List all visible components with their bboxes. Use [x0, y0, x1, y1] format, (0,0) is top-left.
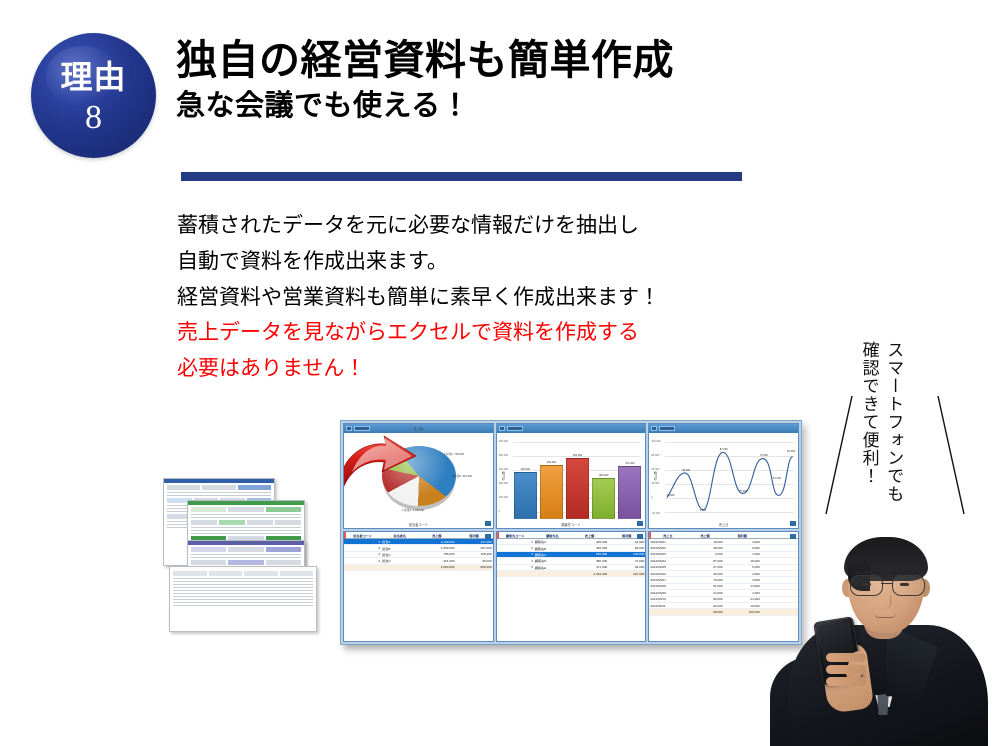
table-options-icon[interactable]	[637, 534, 643, 539]
bar-value-label: 425,000	[515, 468, 536, 471]
bar-ytick-6: 600,000	[499, 440, 508, 443]
bar-ytick-3: 300,000	[499, 482, 508, 485]
table-accent-bar	[649, 532, 651, 539]
line-point-label-5: 27,000	[739, 489, 747, 492]
slide-root: 理由 8 独自の経営資料も簡単作成 急な会議でも使える！ 蓄積されたデータを元に…	[0, 0, 998, 746]
bar-3: 530,000	[566, 458, 589, 519]
cell-total-sales: 58,000	[687, 609, 724, 615]
cell-total-sales: 4,560,000	[418, 564, 455, 570]
pie-label-1: 3 担当C, 756,000	[444, 452, 464, 456]
lens-right	[892, 575, 925, 596]
cell-total-code	[497, 570, 534, 576]
pie-label-2: 4 担当D, 461,000	[452, 474, 472, 478]
line-point-label-2: 48,000	[682, 469, 690, 472]
salesperson-table[interactable]: 担当者コード 担当者名 売上額 粗利額 1 担当A 2,199,000 427,…	[344, 532, 493, 571]
bar-ytick-2: 200,000	[499, 496, 508, 499]
headline-block: 独自の経営資料も簡単作成 急な会議でも使える！	[176, 38, 796, 124]
line-point-label-6: 76,000	[760, 454, 768, 457]
line-point-label-4: 87,000	[720, 448, 728, 451]
eyebrow-left	[854, 571, 880, 574]
body-copy: 蓄積されたデータを元に必要な情報だけを抽出し 自動で資料を作成出来ます。 経営資…	[177, 211, 777, 390]
panel-menu-icon[interactable]	[499, 426, 505, 431]
panel-menu-icon[interactable]	[651, 426, 657, 431]
vertical-caption: スマートフォンでも 確認できて便利！	[856, 341, 905, 516]
pie-chart-xlabel: 担当者コード	[344, 522, 493, 527]
red-arrow-icon	[343, 434, 422, 494]
line-ytick-0: -20,000	[651, 512, 660, 515]
cell-total-date	[649, 609, 686, 615]
bar-value-label: 471,000	[619, 462, 640, 465]
nose	[880, 595, 891, 609]
cell-total-name	[381, 564, 418, 570]
body-line-2: 自動で資料を作成出来ます。	[177, 247, 777, 277]
lens-left	[850, 575, 883, 596]
headline-main: 独自の経営資料も簡単作成	[176, 38, 796, 84]
document-page-form	[169, 566, 317, 632]
pie-table-panel: 担当者コード 担当者名 売上額 粗利額 1 担当A 2,199,000 427,…	[343, 531, 494, 642]
table-total-row: 4,560,000 890,000	[344, 564, 493, 570]
pie-chart-title: 売上額	[344, 426, 493, 431]
glasses-bridge	[881, 583, 892, 584]
caption-bracket-left-icon	[824, 396, 854, 516]
bar-value-label: 380,000	[593, 474, 614, 477]
bar-ytick-5: 500,000	[499, 454, 508, 457]
body-line-1: 蓄積されたデータを元に必要な情報だけを抽出し	[177, 211, 777, 241]
caption-bracket-right-icon	[936, 396, 966, 516]
eyebrow-right	[892, 571, 918, 574]
cell-total-code	[344, 564, 381, 570]
dashboard-panel-pie: 売上額 3 担当C, 756,000 4 担当D, 461,000 1 担当A,…	[343, 423, 494, 642]
panel-resize-handle[interactable]	[790, 521, 796, 526]
line-point-label-1: 18,000	[667, 494, 675, 497]
cell-total-sales: 2,294,000	[571, 570, 608, 576]
line-ytick-1: 0	[651, 496, 652, 499]
bar-value-label: 530,000	[567, 454, 588, 457]
line-point-label-8: 82,000	[787, 449, 795, 452]
pie-chart-panel: 売上額 3 担当C, 756,000 4 担当D, 461,000 1 担当A,…	[343, 423, 494, 529]
bar-chart-xlabel: 顧客先コード	[497, 522, 646, 527]
panel-titlebar[interactable]	[649, 424, 798, 433]
table-options-icon[interactable]	[485, 534, 491, 539]
body-line-5: 必要はありません！	[177, 354, 777, 384]
dashboard-panel-bar: 600,000 500,000 400,000 300,000 200,000 …	[496, 423, 647, 642]
customer-table-panel: 顧客先コード 顧客先名 売上額 粗利額 1 顧客先A 425,000 91,00…	[496, 531, 647, 642]
line-ytick-3: 40,000	[651, 482, 659, 485]
line-point-label-3: 2,000	[700, 509, 707, 512]
document-stack	[163, 478, 323, 633]
bar-1: 425,000	[514, 472, 537, 519]
body-line-3: 経営資料や営業資料も簡単に素早く作成出来ます！	[177, 283, 777, 313]
line-point-label-7: 51,000	[773, 477, 781, 480]
headline-sub: 急な会議でも使える！	[176, 89, 796, 124]
bar-ytick-0: 0	[499, 510, 500, 513]
cell-total-profit: 407,000	[608, 570, 645, 576]
eyeglasses	[848, 575, 926, 595]
badge-label: 理由	[60, 61, 126, 93]
dashboard-window: 売上額 3 担当C, 756,000 4 担当D, 461,000 1 担当A,…	[340, 420, 802, 645]
line-chart-panel: 100,000 80,000 60,000 40,000 0 -20,000 売…	[648, 423, 799, 529]
finger-1	[826, 653, 866, 662]
table-total-row: 2,294,000 407,000	[497, 570, 646, 576]
line-ytick-6: 100,000	[651, 440, 660, 443]
finger-2	[826, 665, 866, 674]
finger-3	[826, 677, 866, 686]
bar-value-label: 482,000	[541, 461, 562, 464]
vertical-caption-line-1: スマートフォンでも	[881, 341, 906, 516]
cell-total-name	[534, 570, 571, 576]
bar-chart-panel: 600,000 500,000 400,000 300,000 200,000 …	[496, 423, 647, 529]
bar-2: 482,000	[540, 465, 563, 520]
panel-titlebar[interactable]	[497, 424, 646, 433]
body-line-4: 売上データを見ながらエクセルで資料を作成する	[177, 318, 777, 348]
pie-label-3: 1 担当A, 2,199,000	[402, 508, 424, 512]
panel-resize-handle[interactable]	[485, 521, 491, 526]
table-accent-bar	[497, 532, 499, 539]
mouth	[874, 613, 896, 618]
line-ytick-5: 80,000	[651, 454, 659, 457]
bar-chart-ylabel: 売上額	[501, 471, 505, 480]
headline-rule	[181, 172, 742, 181]
cell-total-profit: 890,000	[455, 564, 492, 570]
reason-badge: 理由 8	[31, 33, 156, 158]
panel-tab-icon[interactable]	[507, 426, 523, 431]
customer-table[interactable]: 顧客先コード 顧客先名 売上額 粗利額 1 顧客先A 425,000 91,00…	[497, 532, 646, 577]
bar-5: 471,000	[618, 466, 641, 519]
panel-tab-icon[interactable]	[659, 426, 675, 431]
line-chart-xlabel: 売上日	[649, 522, 798, 527]
businessman-photo	[752, 533, 998, 746]
badge-number: 8	[85, 101, 102, 135]
panel-resize-handle[interactable]	[637, 521, 643, 526]
bar-4: 380,000	[592, 478, 615, 519]
table-accent-bar	[344, 532, 346, 539]
bar-series: 425,000 482,000 530,000 380,000 471,000	[514, 440, 642, 519]
vertical-caption-line-2: 確認できて便利！	[856, 341, 881, 516]
line-series: 18,000 48,000 2,000 87,000 27,000 76,000…	[665, 436, 795, 516]
line-chart-ylabel: 売上額	[654, 471, 658, 480]
